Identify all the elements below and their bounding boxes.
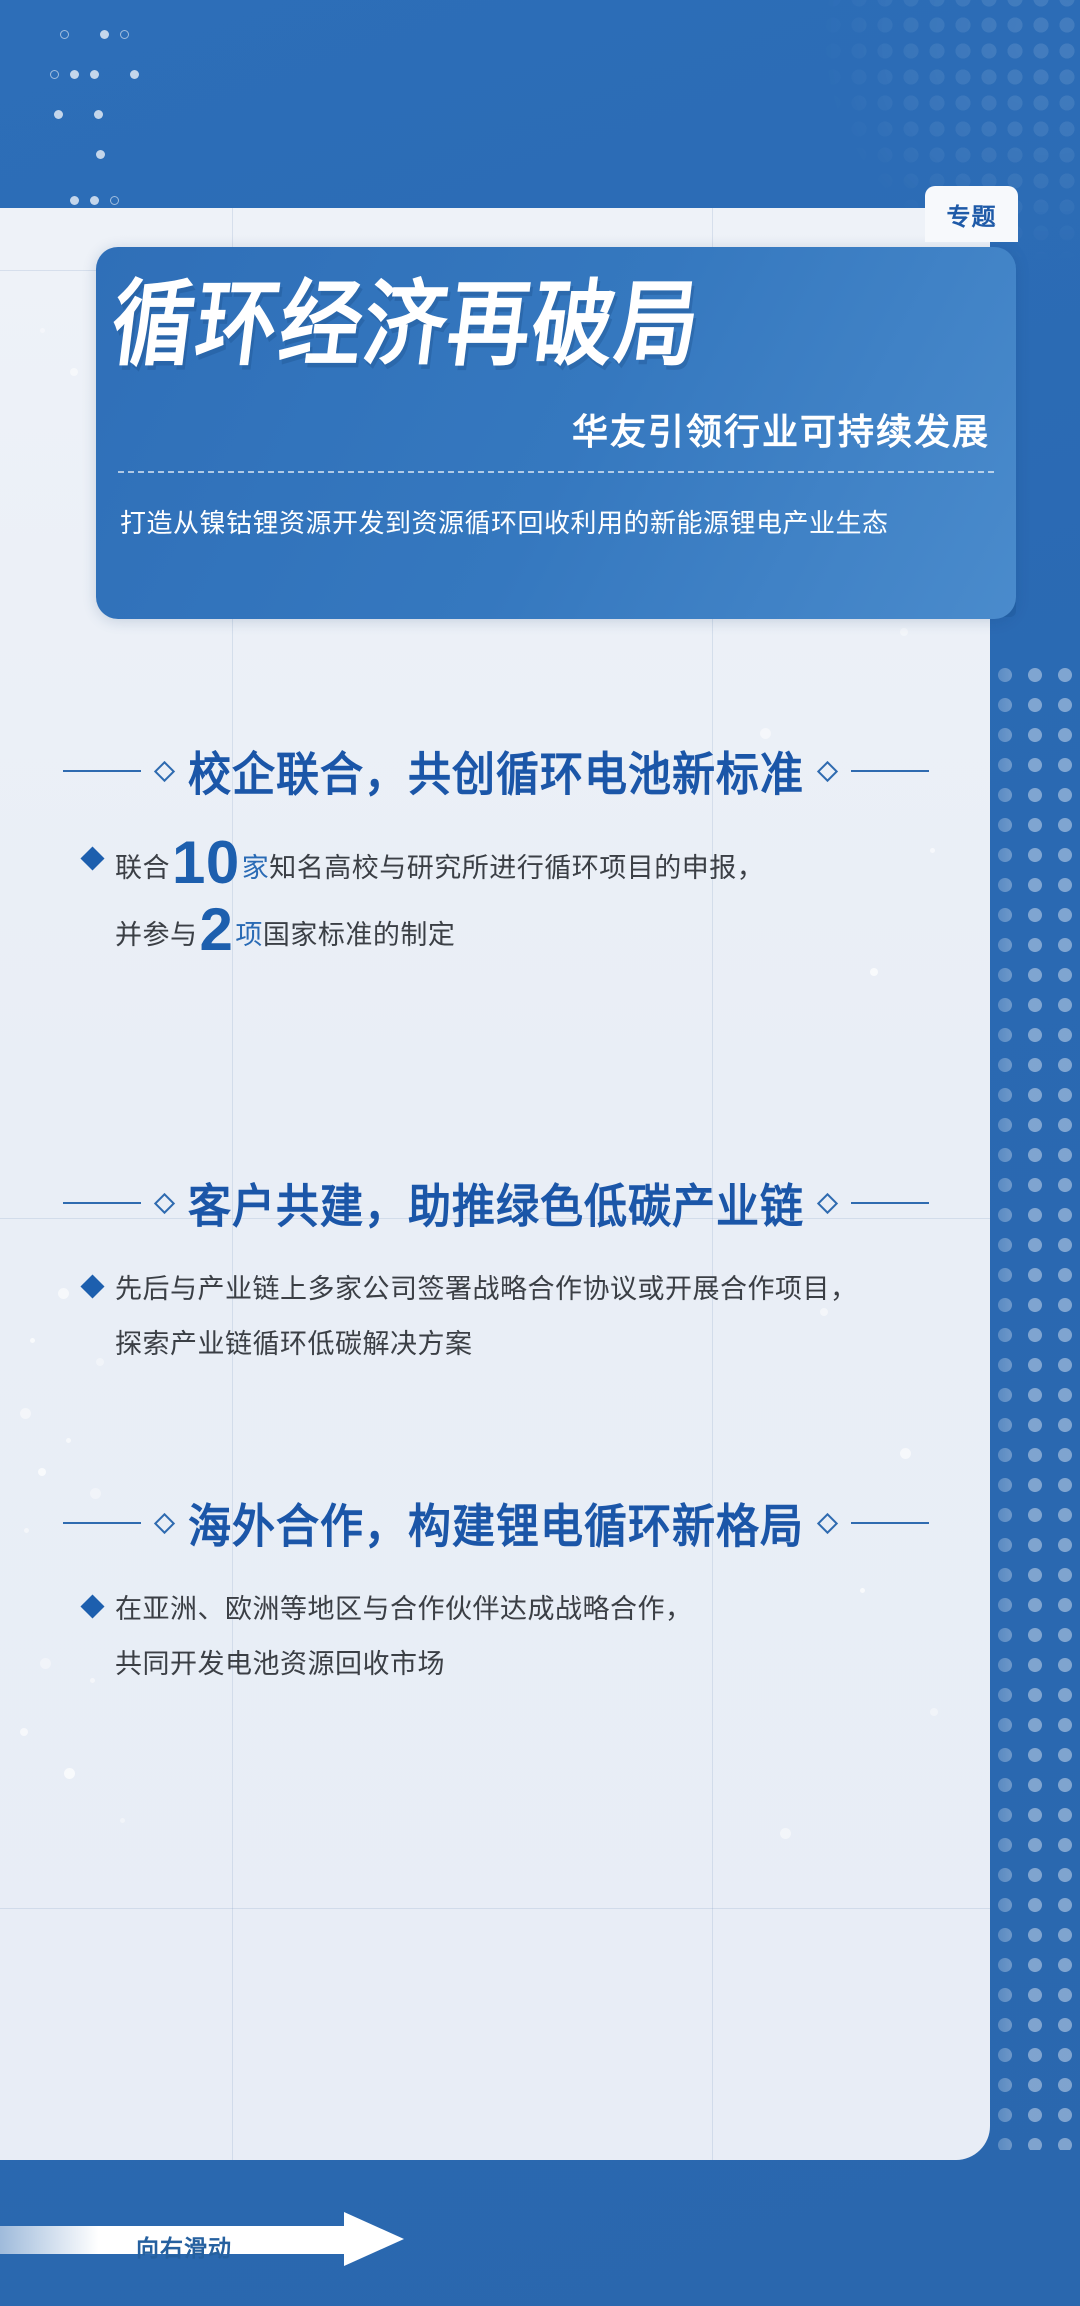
decorative-speckle bbox=[900, 628, 908, 636]
decorative-speckle bbox=[20, 1728, 28, 1736]
bullet-item: 先后与产业链上多家公司签署战略合作协议或开展合作项目， bbox=[84, 1268, 990, 1312]
section-customer-cooperation: 客户共建，助推绿色低碳产业链 先后与产业链上多家公司签署战略合作协议或开展合作项… bbox=[0, 1172, 990, 1366]
text-post: 国家标准的制定 bbox=[263, 920, 456, 950]
bullet-text-second-line: 并参与2项国家标准的制定 bbox=[115, 903, 990, 957]
section-body: 联合10家知名高校与研究所进行循环项目的申报， 并参与2项国家标准的制定 bbox=[84, 836, 990, 957]
diamond-icon bbox=[154, 1192, 175, 1213]
diamond-bullet-icon bbox=[80, 846, 104, 870]
swipe-right-indicator[interactable]: 向右滑动 bbox=[0, 2212, 430, 2266]
section-heading: 客户共建，助推绿色低碳产业链 bbox=[26, 1172, 966, 1234]
text-mid: 项 bbox=[235, 920, 263, 950]
text-mid: 家 bbox=[242, 853, 270, 883]
infographic-page: 专题 循环经济再破局 华友引领行业可持续发展 打造从镍钴锂资源开发到资源循环回收… bbox=[0, 0, 1080, 2306]
topic-badge-label: 专题 bbox=[947, 197, 997, 232]
decorative-dot bbox=[70, 70, 79, 79]
diamond-icon bbox=[817, 760, 838, 781]
diamond-icon bbox=[154, 760, 175, 781]
text-post: 知名高校与研究所进行循环项目的申报， bbox=[269, 853, 764, 883]
bullet-text: 联合10家知名高校与研究所进行循环项目的申报， bbox=[115, 836, 764, 891]
decorative-speckle bbox=[20, 1408, 31, 1419]
decorative-dot bbox=[110, 196, 119, 205]
bullet-text: 先后与产业链上多家公司签署战略合作协议或开展合作项目， bbox=[115, 1268, 858, 1312]
decorative-speckle bbox=[900, 1448, 911, 1459]
text-pre: 联合 bbox=[115, 853, 170, 883]
page-title: 循环经济再破局 bbox=[107, 279, 706, 372]
section-title: 校企联合，共创循环电池新标准 bbox=[188, 738, 804, 805]
section-title: 海外合作，构建锂电循环新格局 bbox=[188, 1490, 804, 1557]
decorative-dot bbox=[120, 30, 129, 39]
section-body: 在亚洲、欧洲等地区与合作伙伴达成战略合作， 共同开发电池资源回收市场 bbox=[84, 1588, 990, 1686]
dashed-divider bbox=[118, 471, 994, 473]
section-title: 客户共建，助推绿色低碳产业链 bbox=[188, 1170, 804, 1237]
decorative-dot bbox=[94, 110, 103, 119]
swipe-label: 向右滑动 bbox=[136, 2229, 232, 2263]
decorative-dot bbox=[96, 150, 105, 159]
section-overseas-cooperation: 海外合作，构建锂电循环新格局 在亚洲、欧洲等地区与合作伙伴达成战略合作， 共同开… bbox=[0, 1492, 990, 1686]
decorative-dot bbox=[50, 70, 59, 79]
decorative-speckle bbox=[120, 1818, 125, 1823]
diamond-icon bbox=[154, 1512, 175, 1533]
section-heading: 海外合作，构建锂电循环新格局 bbox=[26, 1492, 966, 1554]
rule-left bbox=[63, 770, 141, 772]
bullet-text-second-line: 共同开发电池资源回收市场 bbox=[115, 1644, 990, 1686]
text-pre: 并参与 bbox=[115, 920, 198, 950]
bullet-item: 联合10家知名高校与研究所进行循环项目的申报， bbox=[84, 836, 990, 891]
decorative-dot bbox=[130, 70, 139, 79]
diamond-bullet-icon bbox=[80, 1274, 104, 1298]
section-heading: 校企联合，共创循环电池新标准 bbox=[26, 740, 966, 802]
decorative-speckle bbox=[64, 1768, 75, 1779]
rule-right bbox=[851, 1202, 929, 1204]
decorative-dot bbox=[70, 196, 79, 205]
arrow-head-icon bbox=[344, 2212, 404, 2266]
bullet-item: 在亚洲、欧洲等地区与合作伙伴达成战略合作， bbox=[84, 1588, 990, 1632]
header-card: 循环经济再破局 华友引领行业可持续发展 打造从镍钴锂资源开发到资源循环回收利用的… bbox=[96, 247, 1016, 619]
stat-number: 2 bbox=[198, 896, 236, 963]
decorative-speckle bbox=[870, 968, 878, 976]
page-description: 打造从镍钴锂资源开发到资源循环回收利用的新能源锂电产业生态 bbox=[120, 503, 889, 540]
decorative-dot bbox=[90, 70, 99, 79]
diamond-bullet-icon bbox=[80, 1594, 104, 1618]
decorative-speckle bbox=[66, 1438, 71, 1443]
section-body: 先后与产业链上多家公司签署战略合作协议或开展合作项目， 探索产业链循环低碳解决方… bbox=[84, 1268, 990, 1366]
decorative-speckle bbox=[930, 1708, 938, 1716]
section-school-enterprise: 校企联合，共创循环电池新标准 联合10家知名高校与研究所进行循环项目的申报， 并… bbox=[0, 740, 990, 957]
diamond-icon bbox=[817, 1512, 838, 1533]
page-subtitle: 华友引领行业可持续发展 bbox=[572, 403, 990, 455]
decorative-dot bbox=[54, 110, 63, 119]
rule-left bbox=[63, 1202, 141, 1204]
decorative-dot bbox=[60, 30, 69, 39]
diamond-icon bbox=[817, 1192, 838, 1213]
rule-right bbox=[851, 770, 929, 772]
bullet-text-second-line: 探索产业链循环低碳解决方案 bbox=[115, 1324, 990, 1366]
decorative-dot bbox=[100, 30, 109, 39]
decorative-dot bbox=[90, 196, 99, 205]
bullet-text: 在亚洲、欧洲等地区与合作伙伴达成战略合作， bbox=[115, 1588, 693, 1632]
rule-left bbox=[63, 1522, 141, 1524]
decorative-speckle bbox=[40, 328, 45, 333]
topic-badge[interactable]: 专题 bbox=[925, 186, 1018, 242]
decorative-speckle bbox=[780, 1828, 791, 1839]
rule-right bbox=[851, 1522, 929, 1524]
stat-number: 10 bbox=[170, 829, 242, 896]
decorative-speckle bbox=[70, 368, 78, 376]
decorative-speckle bbox=[38, 1468, 46, 1476]
guide-line bbox=[0, 1908, 990, 1909]
